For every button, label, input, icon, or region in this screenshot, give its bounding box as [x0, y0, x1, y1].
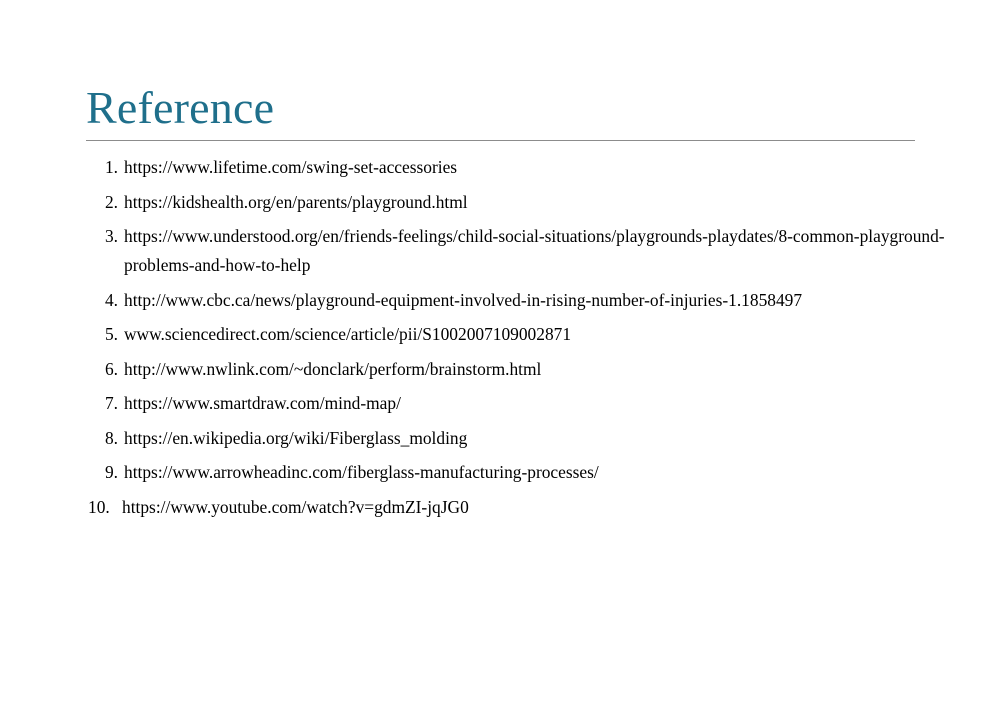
list-item: 1. https://www.lifetime.com/swing-set-ac…	[86, 153, 946, 182]
list-item-number: 6.	[86, 355, 118, 384]
list-item: 4. http://www.cbc.ca/news/playground-equ…	[86, 286, 946, 315]
list-item: 7. https://www.smartdraw.com/mind-map/	[86, 389, 946, 418]
list-item: 9. https://www.arrowheadinc.com/fibergla…	[86, 458, 946, 487]
reference-url[interactable]: https://www.arrowheadinc.com/fiberglass-…	[124, 458, 946, 487]
list-item: 6. http://www.nwlink.com/~donclark/perfo…	[86, 355, 946, 384]
list-item: 5. www.sciencedirect.com/science/article…	[86, 320, 946, 349]
list-item-number: 8.	[86, 424, 118, 453]
reference-list: 1. https://www.lifetime.com/swing-set-ac…	[86, 153, 946, 527]
slide-reference: Reference 1. https://www.lifetime.com/sw…	[0, 0, 1000, 707]
list-item-number: 3.	[86, 222, 118, 251]
list-item: 10. https://www.youtube.com/watch?v=gdmZ…	[86, 493, 946, 522]
reference-url[interactable]: https://www.youtube.com/watch?v=gdmZI-jq…	[122, 493, 946, 522]
list-item-number: 5.	[86, 320, 118, 349]
reference-url[interactable]: https://kidshealth.org/en/parents/playgr…	[124, 188, 946, 217]
list-item-number: 2.	[86, 188, 118, 217]
reference-url[interactable]: https://www.understood.org/en/friends-fe…	[124, 222, 946, 280]
list-item-number: 1.	[86, 153, 118, 182]
list-item: 8. https://en.wikipedia.org/wiki/Fibergl…	[86, 424, 946, 453]
title-divider	[86, 140, 915, 141]
list-item-number: 4.	[86, 286, 118, 315]
reference-url[interactable]: http://www.cbc.ca/news/playground-equipm…	[124, 286, 946, 315]
reference-url[interactable]: https://www.smartdraw.com/mind-map/	[124, 389, 946, 418]
list-item-number: 9.	[86, 458, 118, 487]
list-item: 3. https://www.understood.org/en/friends…	[86, 222, 946, 280]
list-item-number: 7.	[86, 389, 118, 418]
list-item: 2. https://kidshealth.org/en/parents/pla…	[86, 188, 946, 217]
reference-url[interactable]: https://www.lifetime.com/swing-set-acces…	[124, 153, 946, 182]
page-title: Reference	[86, 82, 274, 134]
reference-url[interactable]: https://en.wikipedia.org/wiki/Fiberglass…	[124, 424, 946, 453]
reference-url[interactable]: www.sciencedirect.com/science/article/pi…	[124, 320, 946, 349]
reference-url[interactable]: http://www.nwlink.com/~donclark/perform/…	[124, 355, 946, 384]
list-item-number: 10.	[86, 493, 124, 522]
